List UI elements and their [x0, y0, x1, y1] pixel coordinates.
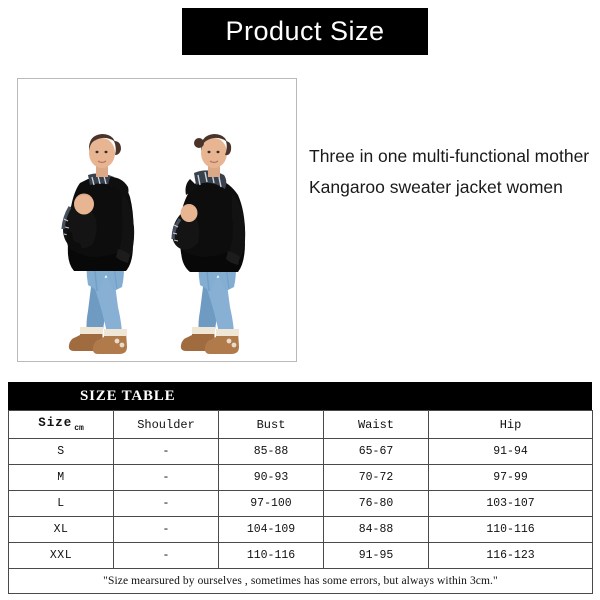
product-photo-illustration [18, 79, 296, 361]
cell-waist: 91-95 [324, 543, 429, 569]
cell-hip: 103-107 [429, 491, 593, 517]
cell-shoulder: - [114, 465, 219, 491]
cell-size: S [9, 439, 114, 465]
baby-head-front [74, 194, 94, 215]
cell-bust: 85-88 [219, 439, 324, 465]
cell-hip: 110-116 [429, 517, 593, 543]
cell-waist: 84-88 [324, 517, 429, 543]
size-table-title-bar: SIZE TABLE [8, 382, 592, 410]
cell-waist: 76-80 [324, 491, 429, 517]
column-header-size: Sizecm [9, 411, 114, 439]
mother-head-back [201, 138, 227, 168]
product-photo [17, 78, 297, 362]
column-header-hip: Hip [429, 411, 593, 439]
size-table-title: SIZE TABLE [80, 388, 175, 405]
table-header-row: Sizecm Shoulder Bust Waist Hip [9, 411, 593, 439]
product-description: Three in one multi-functional mother Kan… [309, 141, 591, 203]
table-row: XXL - 110-116 91-95 116-123 [9, 543, 593, 569]
cell-size: XXL [9, 543, 114, 569]
table-row: L - 97-100 76-80 103-107 [9, 491, 593, 517]
table-row: XL - 104-109 84-88 110-116 [9, 517, 593, 543]
cell-bust: 104-109 [219, 517, 324, 543]
table-note-row: "Size mearsured by ourselves , sometimes… [9, 569, 593, 594]
mother-head-front [89, 138, 115, 168]
size-table: Sizecm Shoulder Bust Waist Hip S - 85-88… [8, 410, 593, 594]
cell-shoulder: - [114, 543, 219, 569]
table-row: S - 85-88 65-67 91-94 [9, 439, 593, 465]
column-header-shoulder: Shoulder [114, 411, 219, 439]
product-size-banner: Product Size [182, 8, 428, 55]
cell-waist: 65-67 [324, 439, 429, 465]
page-title: Product Size [225, 18, 384, 45]
cell-shoulder: - [114, 439, 219, 465]
column-header-bust: Bust [219, 411, 324, 439]
cell-bust: 110-116 [219, 543, 324, 569]
cell-hip: 91-94 [429, 439, 593, 465]
cell-shoulder: - [114, 517, 219, 543]
cell-bust: 97-100 [219, 491, 324, 517]
size-table-section: SIZE TABLE Sizecm Shoulder Bust Waist Hi… [8, 382, 592, 594]
hair-bun [194, 138, 204, 148]
size-table-note: "Size mearsured by ourselves , sometimes… [9, 569, 593, 594]
baby-head-back [181, 204, 198, 222]
cell-size: XL [9, 517, 114, 543]
cell-hip: 116-123 [429, 543, 593, 569]
cell-waist: 70-72 [324, 465, 429, 491]
cell-hip: 97-99 [429, 465, 593, 491]
cell-size: L [9, 491, 114, 517]
table-row: M - 90-93 70-72 97-99 [9, 465, 593, 491]
column-header-waist: Waist [324, 411, 429, 439]
cell-shoulder: - [114, 491, 219, 517]
cell-bust: 90-93 [219, 465, 324, 491]
cell-size: M [9, 465, 114, 491]
